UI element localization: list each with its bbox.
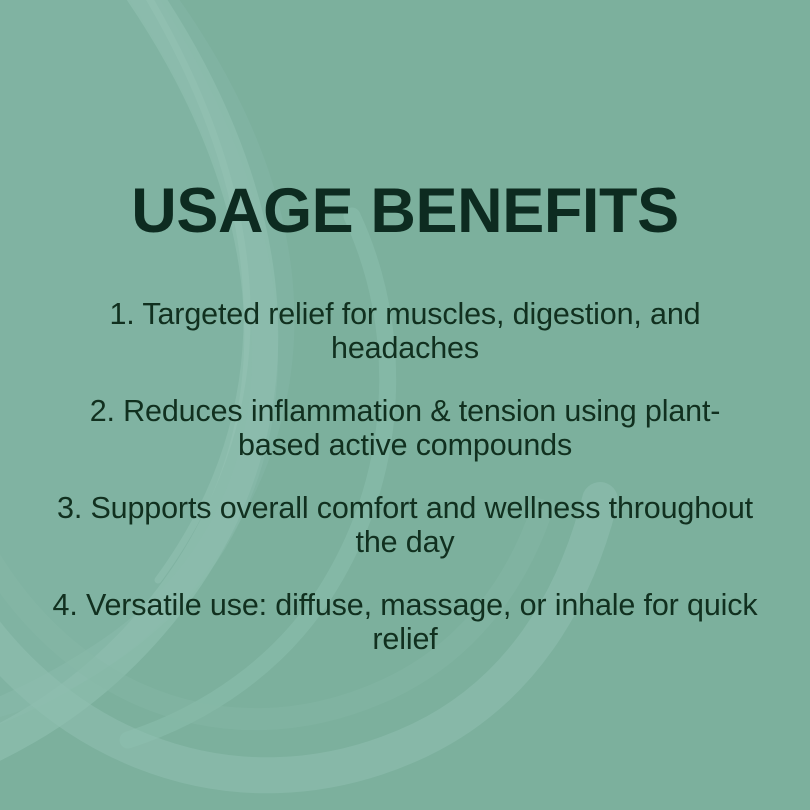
benefits-list: 1. Targeted relief for muscles, digestio… (50, 298, 760, 656)
poster-content: USAGE BENEFITS 1. Targeted relief for mu… (0, 0, 810, 810)
page-title: USAGE BENEFITS (0, 178, 810, 245)
list-item: 4. Versatile use: diffuse, massage, or i… (50, 589, 760, 656)
usage-benefits-poster: USAGE BENEFITS 1. Targeted relief for mu… (0, 0, 810, 810)
list-item: 1. Targeted relief for muscles, digestio… (50, 298, 760, 365)
list-item: 3. Supports overall comfort and wellness… (50, 492, 760, 559)
list-item: 2. Reduces inflammation & tension using … (50, 395, 760, 462)
